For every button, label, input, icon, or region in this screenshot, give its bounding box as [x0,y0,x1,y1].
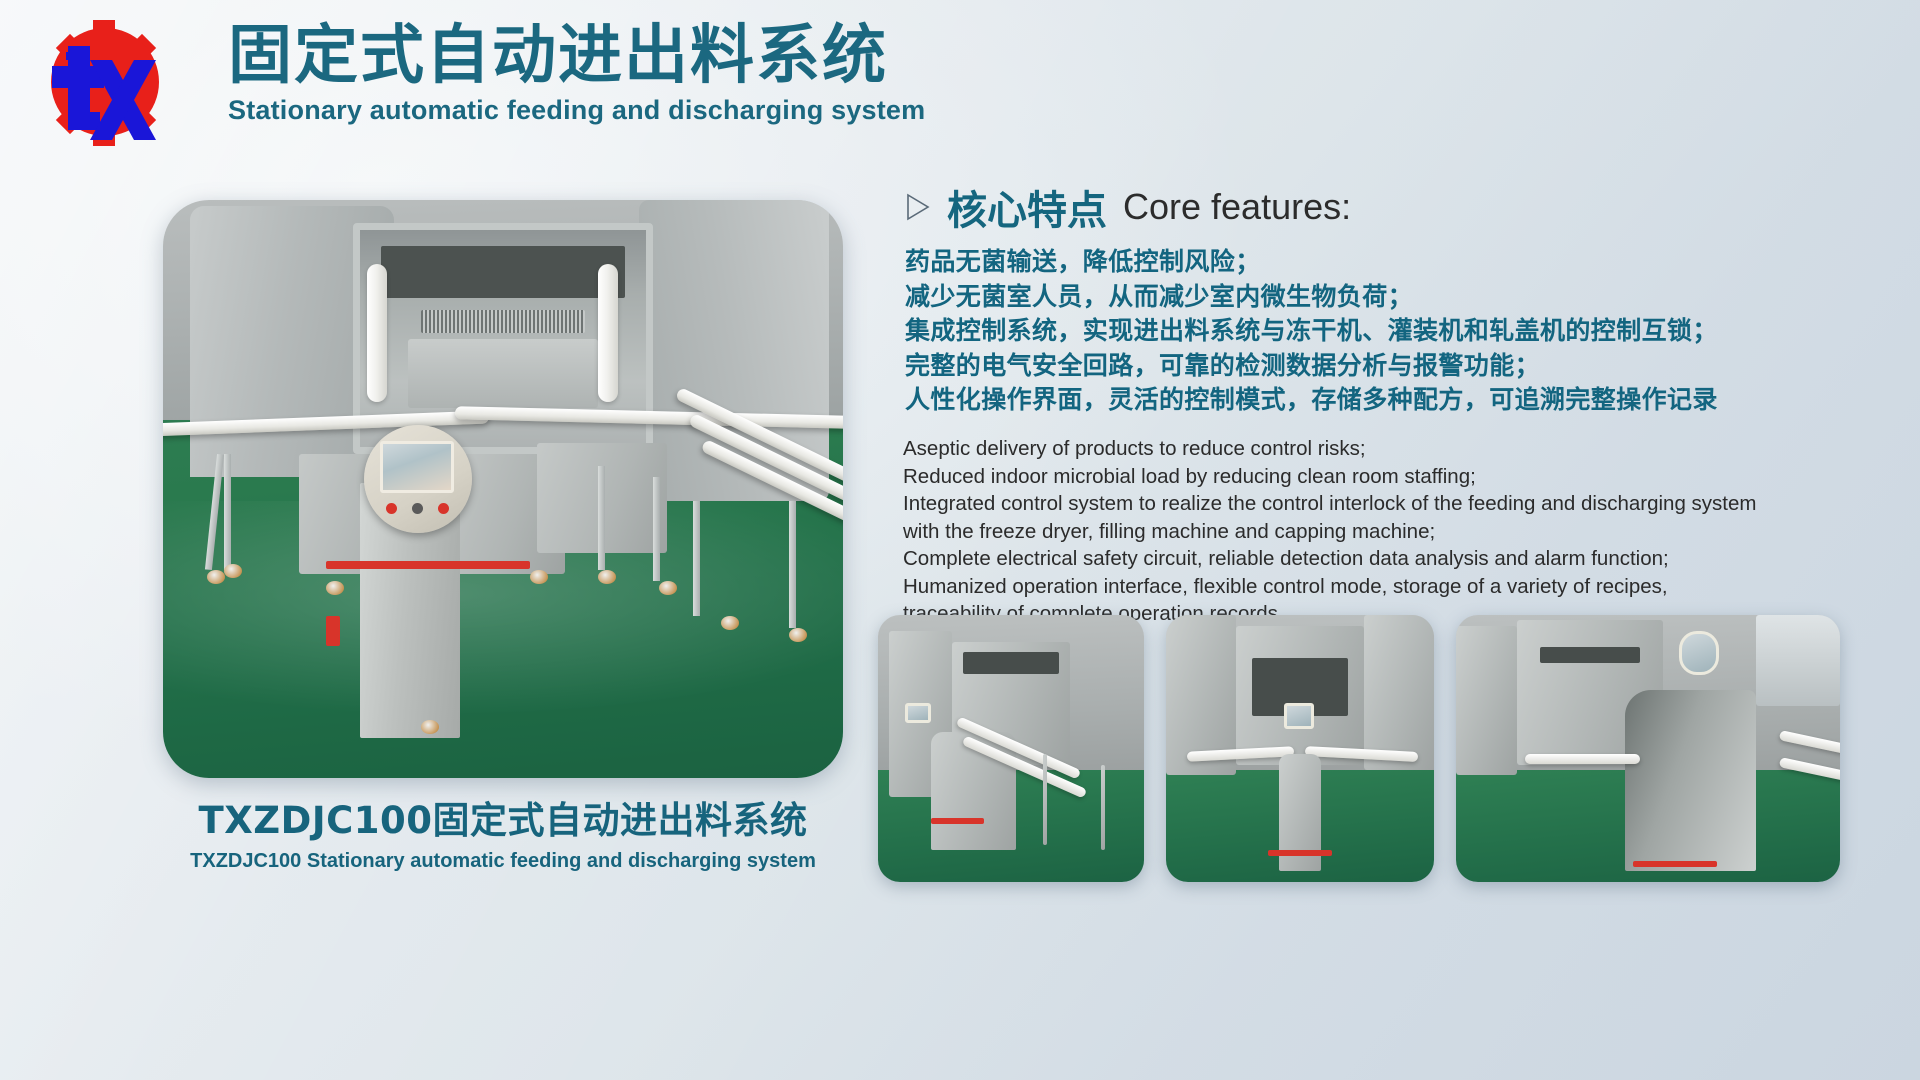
features-list-cn: 药品无菌输送，降低控制风险； 减少无菌室人员，从而减少室内微生物负荷； 集成控制… [905,245,1835,418]
main-photo-caption: TXZDJC100固定式自动进出料系统 TXZDJC100 Stationary… [163,790,843,873]
slide-header: 固定式自动进出料系统 Stationary automatic feeding … [0,0,1920,170]
caption-en: TXZDJC100 Stationary automatic feeding a… [163,850,843,873]
gear-icon [38,16,178,152]
feature-en-5: Complete electrical safety circuit, reli… [903,545,1833,573]
feature-cn-5: 人性化操作界面，灵活的控制模式，存储多种配方，可追溯完整操作记录 [905,383,1835,418]
photo-scene [163,200,843,778]
feature-en-6: Humanized operation interface, flexible … [903,573,1833,601]
feature-cn-2: 减少无菌室人员，从而减少室内微生物负荷； [905,280,1835,315]
triangle-arrow-icon [905,193,931,221]
core-features-label-en: Core features: [1123,186,1351,228]
core-features-heading: 核心特点 Core features: [905,178,1351,236]
features-list-en: Aseptic delivery of products to reduce c… [903,435,1833,628]
feature-cn-1: 药品无菌输送，降低控制风险； [905,245,1835,280]
feature-en-2: Reduced indoor microbial load by reducin… [903,463,1833,491]
feature-en-3: Integrated control system to realize the… [903,490,1833,518]
page-title-cn: 固定式自动进出料系统 [228,22,925,91]
feature-en-4: with the freeze dryer, filling machine a… [903,518,1833,546]
thumbnail-gallery [878,615,1840,882]
company-logo [38,16,178,152]
thumbnail-1[interactable] [878,615,1144,882]
core-features-label-cn: 核心特点 [947,178,1107,236]
title-block: 固定式自动进出料系统 Stationary automatic feeding … [228,22,925,126]
hmi-panel [364,425,472,533]
thumbnail-2[interactable] [1166,615,1434,882]
feature-cn-3: 集成控制系统，实现进出料系统与冻干机、灌装机和轧盖机的控制互锁； [905,314,1835,349]
page-title-en: Stationary automatic feeding and dischar… [228,95,925,126]
thumbnail-3[interactable] [1456,615,1840,882]
feature-en-1: Aseptic delivery of products to reduce c… [903,435,1833,463]
feature-cn-4: 完整的电气安全回路，可靠的检测数据分析与报警功能； [905,349,1835,384]
caption-cn: TXZDJC100固定式自动进出料系统 [163,790,843,844]
main-product-photo [163,200,843,778]
